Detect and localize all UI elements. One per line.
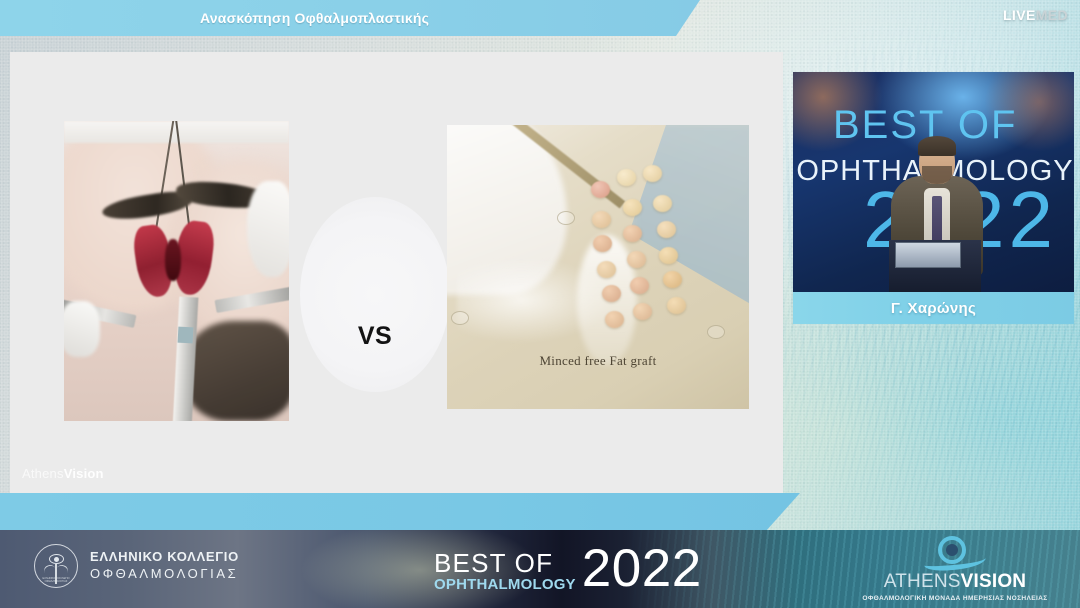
hellenic-college-emblem-icon: ΕΛΛΗΝΙΚΟ ΚΟΛΛΕΓΙΟ ΟΦΘΑΛΜΟΛΟΓΙΑΣ xyxy=(34,544,78,588)
vs-backdrop-circle xyxy=(300,197,450,392)
video-laptop xyxy=(895,242,961,268)
slide-watermark-athensvision: AthensVision xyxy=(22,466,104,481)
photo-glove-bottom-left xyxy=(64,301,100,357)
speaker-video-feed[interactable]: BEST OF OPHTHALMOLOGY 2022 xyxy=(793,72,1074,292)
fat-graft-piece xyxy=(663,271,682,288)
fat-graft-piece xyxy=(659,247,678,264)
athens-vision-name: ATHENSVISION xyxy=(850,572,1060,591)
athens-text: ATHENS xyxy=(884,571,961,592)
fat-graft-piece xyxy=(630,277,649,294)
video-speaker-hair xyxy=(918,136,956,156)
fat-graft-piece xyxy=(623,225,642,242)
page-title: Ανασκόπηση Οφθαλμοπλαστικής xyxy=(200,10,429,26)
video-speaker-beard xyxy=(922,166,952,184)
fat-graft-piece xyxy=(643,165,662,182)
photo-retractor-band xyxy=(178,327,194,344)
fat-graft-piece xyxy=(597,261,616,278)
photo-glove-right xyxy=(247,181,289,277)
speaker-name: Γ. Χαρώνης xyxy=(891,300,976,317)
footer-sponsor-bar: ΕΛΛΗΝΙΚΟ ΚΟΛΛΕΓΙΟ ΟΦΘΑΛΜΟΛΟΓΙΑΣ ΕΛΛΗΝΙΚΟ… xyxy=(0,530,1080,608)
event-year: 2022 xyxy=(582,546,702,592)
fat-graft-piece xyxy=(653,195,672,212)
emblem-subtext: ΕΛΛΗΝΙΚΟ ΚΟΛΛΕΓΙΟ ΟΦΘΑΛΜΟΛΟΓΙΑΣ xyxy=(36,577,76,583)
photo-beard xyxy=(184,321,289,421)
fat-graft-piece xyxy=(605,311,624,328)
athens-vision-eye-icon xyxy=(922,536,988,570)
livemed-logo: LIVEMED xyxy=(1003,7,1068,23)
fat-graft-caption: Minced free Fat graft xyxy=(447,353,749,369)
watermark-athens-text: Athens xyxy=(22,466,64,481)
ophthalmology-text: OPHTHALMOLOGY xyxy=(434,577,576,592)
graft-photo-bubble xyxy=(451,311,469,325)
blue-accent-wedge xyxy=(0,493,800,531)
best-of-ophthalmology-logo: BEST OF OPHTHALMOLOGY 2022 xyxy=(434,546,702,592)
fat-graft-piece xyxy=(627,251,646,268)
hellenic-college-line1: ΕΛΛΗΝΙΚΟ ΚΟΛΛΕΓΙΟ xyxy=(90,549,239,566)
athens-vision-logo: ATHENSVISION ΟΦΘΑΛΜΟΛΟΓΙΚΗ ΜΟΝΑΔΑ ΗΜΕΡΗΣ… xyxy=(850,536,1060,602)
hellenic-college-logo: ΕΛΛΗΝΙΚΟ ΚΟΛΛΕΓΙΟ ΟΦΘΑΛΜΟΛΟΓΙΑΣ ΕΛΛΗΝΙΚΟ… xyxy=(34,544,239,588)
fat-graft-piece xyxy=(602,285,621,302)
watermark-vision-text: Vision xyxy=(64,466,104,481)
fat-graft-piece xyxy=(592,211,611,228)
speaker-name-bar: Γ. Χαρώνης xyxy=(793,292,1074,324)
fat-graft-piece xyxy=(667,297,686,314)
photo-incision-gap xyxy=(165,239,181,281)
eyelid-surgery-photo xyxy=(64,121,289,421)
fat-graft-piece xyxy=(623,199,642,216)
fat-graft-piece xyxy=(593,235,612,252)
athens-vision-subtitle: ΟΦΘΑΛΜΟΛΟΓΙΚΗ ΜΟΝΑΔΑ ΗΜΕΡΗΣΙΑΣ ΝΟΣΗΛΕΙΑΣ xyxy=(850,595,1060,602)
fat-graft-piece xyxy=(617,169,636,186)
livemed-med-text: MED xyxy=(1036,7,1068,23)
graft-photo-bubble xyxy=(707,325,725,339)
fat-graft-piece xyxy=(633,303,652,320)
hellenic-college-line2: ΟΦΘΑΛΜΟΛΟΓΙΑΣ xyxy=(90,566,239,583)
best-of-text: BEST OF xyxy=(434,550,576,576)
graft-photo-bubble xyxy=(557,211,575,225)
eye-swoosh-icon xyxy=(923,551,986,572)
emblem-pupil-icon xyxy=(54,557,59,562)
presentation-slide[interactable]: VS xyxy=(10,52,783,493)
video-backdrop-best-of: BEST OF xyxy=(833,106,1074,144)
hellenic-college-text: ΕΛΛΗΝΙΚΟ ΚΟΛΛΕΓΙΟ ΟΦΘΑΛΜΟΛΟΓΙΑΣ xyxy=(90,549,239,582)
livemed-live-text: LIVE xyxy=(1003,7,1036,23)
fat-graft-photo: Minced free Fat graft xyxy=(447,125,749,409)
fat-graft-piece xyxy=(591,181,610,198)
vision-text: VISION xyxy=(961,571,1027,592)
best-of-text-block: BEST OF OPHTHALMOLOGY xyxy=(434,550,576,592)
fat-graft-piece xyxy=(657,221,676,238)
vs-label: VS xyxy=(340,322,410,351)
